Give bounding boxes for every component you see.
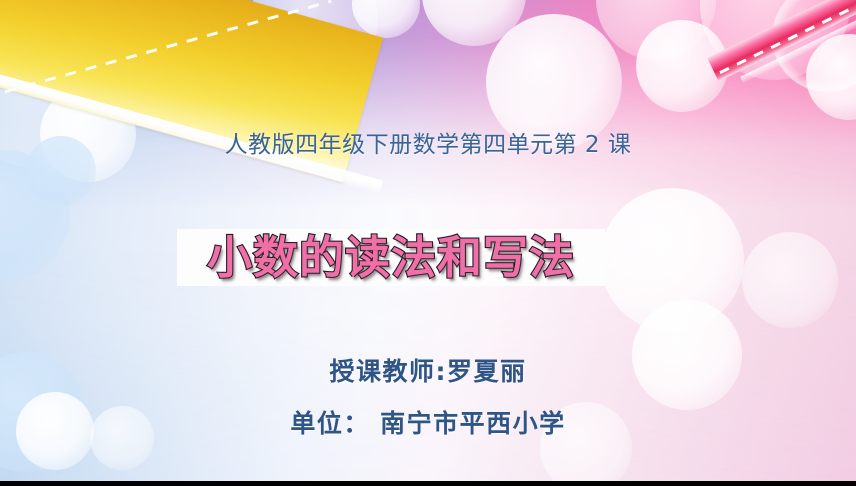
bottom-letterbox-bar	[0, 481, 856, 486]
teacher-name-line: 授课教师:罗夏丽	[0, 356, 856, 388]
presentation-slide: 人教版四年级下册数学第四单元第 2 课 小数的读法和写法 授课教师:罗夏丽 单位…	[0, 0, 856, 486]
school-name-line: 单位： 南宁市平西小学	[0, 408, 856, 440]
course-subtitle: 人教版四年级下册数学第四单元第 2 课	[0, 130, 856, 160]
lesson-title: 小数的读法和写法	[207, 233, 575, 283]
lesson-title-plate: 小数的读法和写法	[177, 229, 605, 286]
